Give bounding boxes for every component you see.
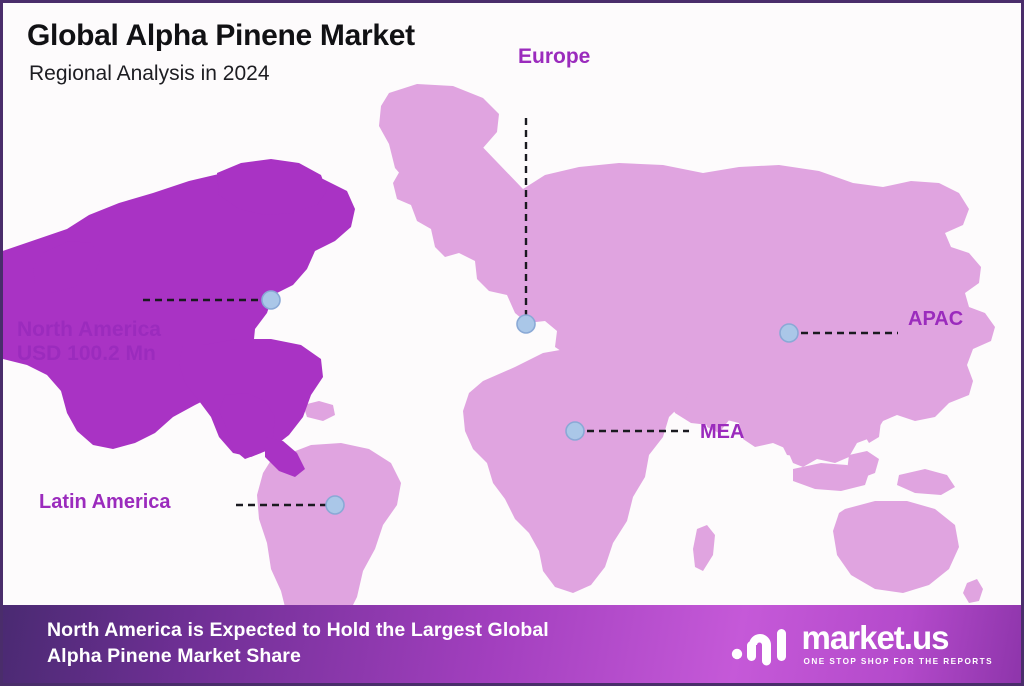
australia-shape bbox=[833, 501, 959, 593]
caribbean-shape bbox=[303, 401, 335, 421]
logo-tagline: ONE STOP SHOP FOR THE REPORTS bbox=[804, 657, 993, 666]
marker-apac bbox=[780, 324, 798, 342]
new-guinea-shape bbox=[897, 469, 955, 495]
region-label-apac-text: APAC bbox=[908, 308, 963, 330]
region-label-mea-text: MEA bbox=[700, 421, 744, 443]
new-zealand-shape bbox=[963, 579, 983, 603]
region-value-north-america: USD 100.2 Mn bbox=[17, 342, 161, 366]
region-label-mea: MEA bbox=[700, 421, 744, 443]
region-label-europe: Europe bbox=[518, 45, 590, 69]
marker-latin-america bbox=[326, 496, 344, 514]
marker-europe bbox=[517, 315, 535, 333]
signal-bars-icon bbox=[731, 621, 793, 667]
page-title: Global Alpha Pinene Market bbox=[27, 19, 415, 52]
footer-headline-line1: North America is Expected to Hold the La… bbox=[47, 619, 549, 641]
brand-logo[interactable]: market.us ONE STOP SHOP FOR THE REPORTS bbox=[731, 621, 993, 667]
footer-headline: North America is Expected to Hold the La… bbox=[47, 618, 549, 669]
marker-mea bbox=[566, 422, 584, 440]
marker-north-america bbox=[262, 291, 280, 309]
region-label-north-america: North America USD 100.2 Mn bbox=[17, 318, 161, 365]
region-label-apac: APAC bbox=[908, 308, 963, 330]
madagascar-shape bbox=[693, 525, 715, 571]
logo-wordmark: market.us bbox=[802, 622, 949, 653]
region-label-europe-text: Europe bbox=[518, 45, 590, 68]
footer-headline-line2: Alpha Pinene Market Share bbox=[47, 644, 549, 670]
region-label-latin-america-text: Latin America bbox=[39, 491, 171, 513]
header: Global Alpha Pinene Market Regional Anal… bbox=[27, 19, 415, 85]
footer-banner: North America is Expected to Hold the La… bbox=[3, 605, 1021, 683]
region-label-latin-america: Latin America bbox=[39, 491, 171, 513]
infographic-frame: Global Alpha Pinene Market Regional Anal… bbox=[0, 0, 1024, 686]
logo-text: market.us ONE STOP SHOP FOR THE REPORTS bbox=[802, 622, 993, 665]
africa-shape bbox=[463, 347, 693, 593]
page-subtitle: Regional Analysis in 2024 bbox=[29, 62, 415, 85]
region-label-north-america-text: North America bbox=[17, 318, 161, 341]
base-landmasses bbox=[257, 84, 995, 607]
